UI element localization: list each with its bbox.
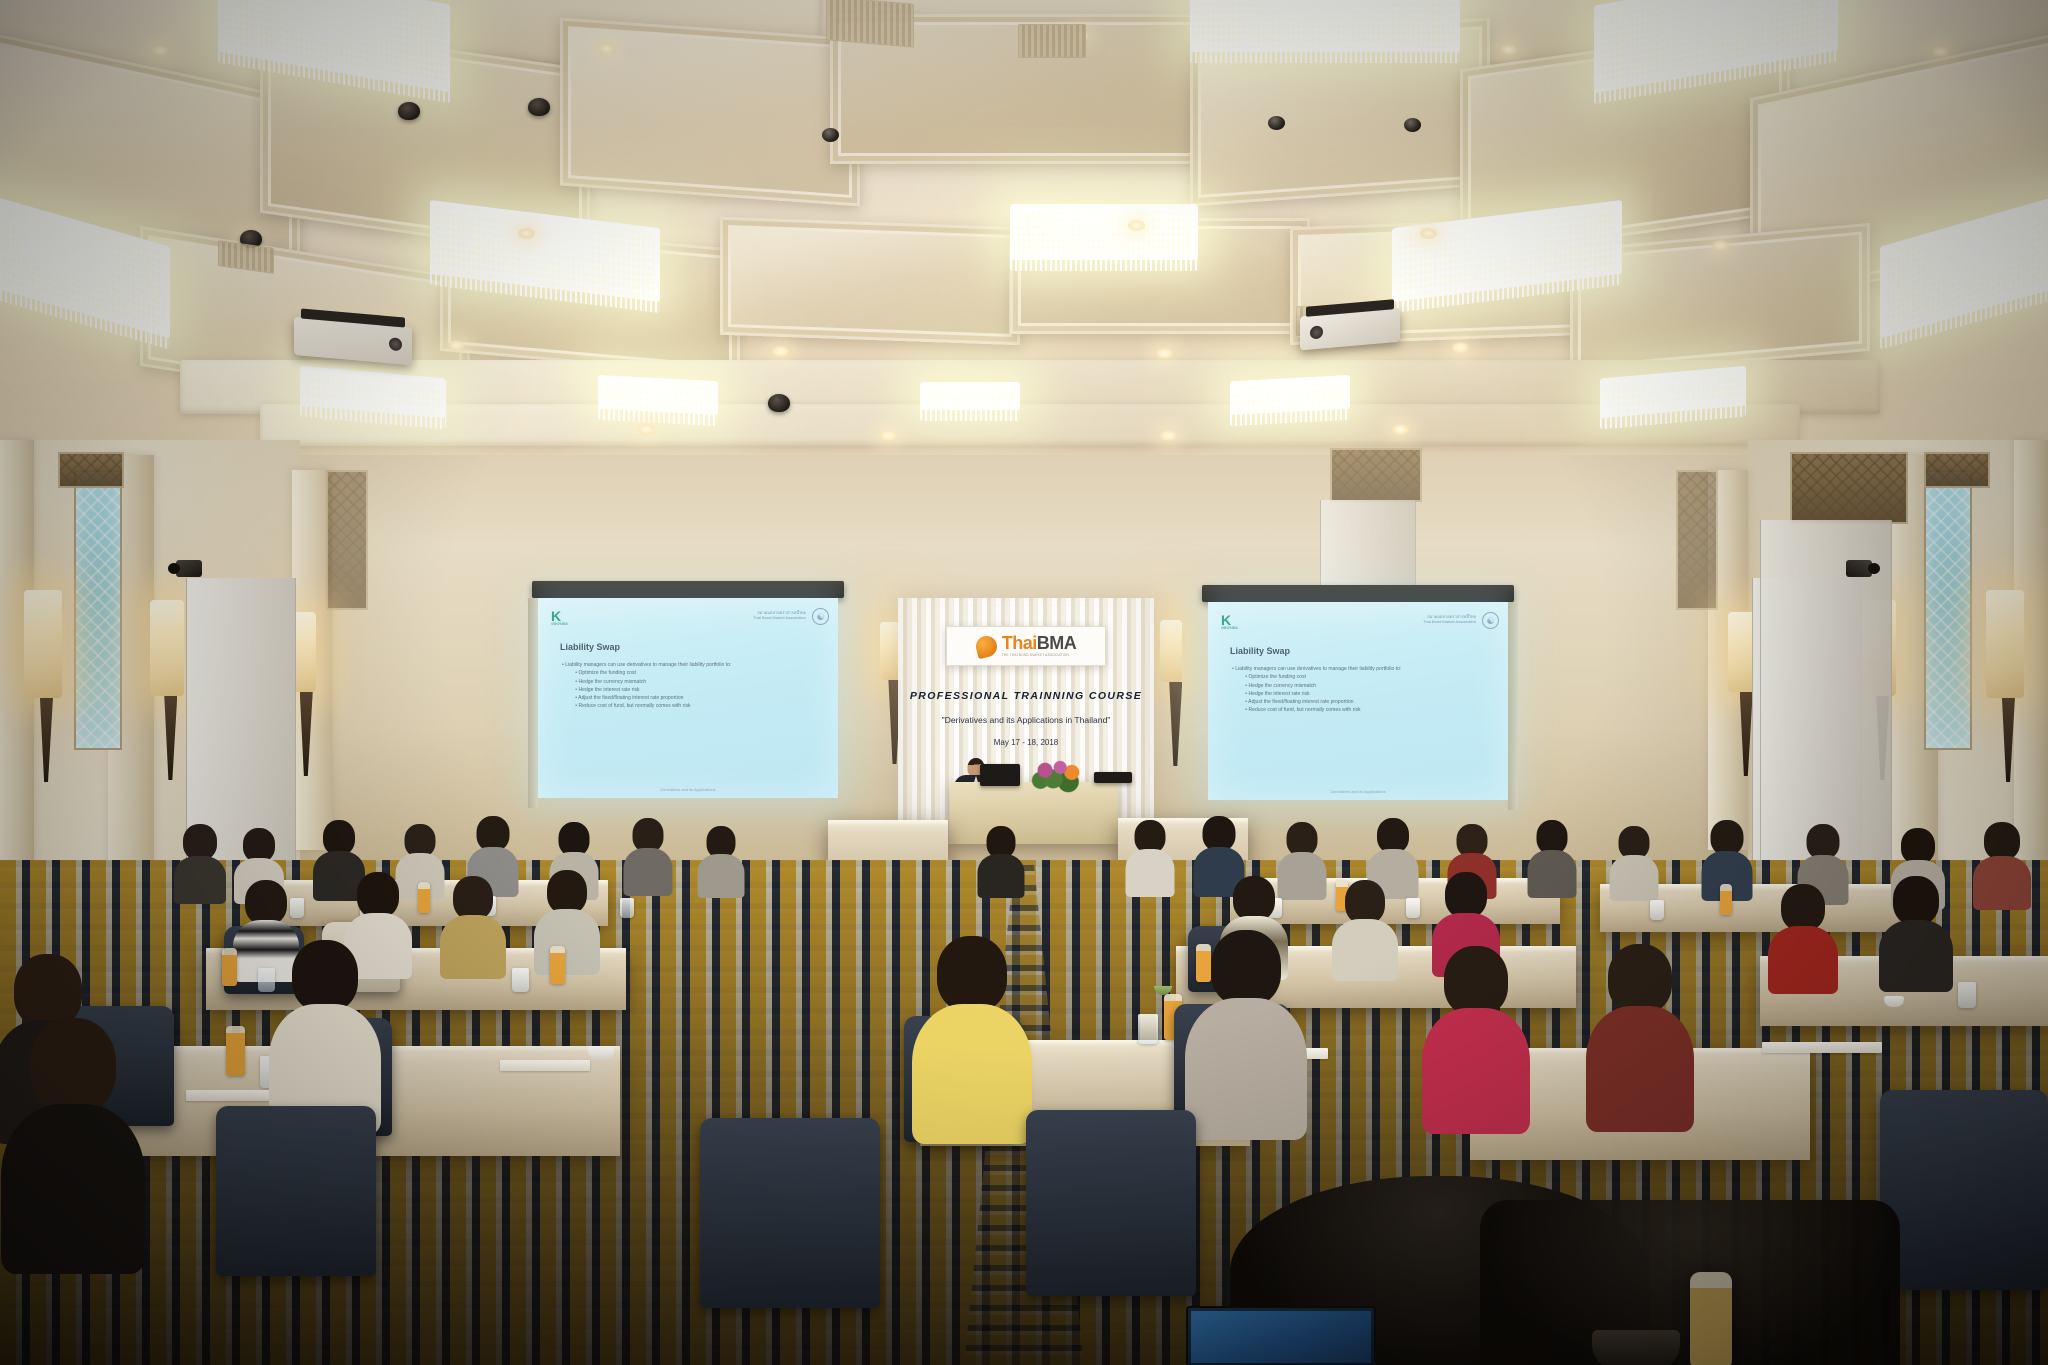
attendee-body [978, 854, 1025, 898]
slide-bullet: • Liability managers can use derivatives… [1232, 666, 1401, 672]
slide-footer: Derivatives and its Applications [660, 787, 715, 792]
coffered-ceiling [0, 0, 2048, 470]
attendee-head [243, 828, 275, 862]
banner-course-subject: "Derivatives and its Applications in Tha… [898, 715, 1154, 725]
attendee [700, 826, 742, 896]
projection-screen-right: K KASIKORNBANK สมาคมตลาดตราสารหนี้ไทย Th… [1208, 602, 1508, 800]
attendee-head [292, 940, 358, 1012]
screen-surface: K KASIKORNBANK สมาคมตลาดตราสารหนี้ไทย Th… [538, 598, 838, 798]
attendee [1530, 820, 1574, 894]
crystal-chandelier [1190, 0, 1460, 52]
notepad [1762, 1042, 1882, 1053]
attendee-body [1, 1104, 145, 1274]
slide-org-logo: สมาคมตลาดตราสารหนี้ไทย Thai Bond Market … [1423, 614, 1476, 624]
attendee-body [1528, 850, 1577, 898]
security-camera [1268, 116, 1285, 130]
wall-sconce [150, 600, 184, 696]
attendee-body [1332, 919, 1398, 981]
attendee [980, 826, 1022, 896]
security-camera [1404, 118, 1421, 132]
crystal-chandelier [1392, 200, 1622, 302]
attendee-body [1586, 1006, 1694, 1132]
attendee-head [633, 818, 664, 852]
crystal-chandelier [1010, 204, 1198, 260]
water-glass [620, 898, 634, 918]
attendee-body [1422, 1008, 1530, 1134]
attendee [922, 936, 1022, 1132]
crystal-chandelier [598, 375, 718, 415]
coffee-cup [1592, 1330, 1680, 1365]
slide-bullet: • Hedge the currency mismatch [575, 679, 731, 685]
ceiling-vent [1018, 24, 1086, 58]
decorative-lattice-panel [1924, 452, 1990, 488]
coffee-cup [588, 1046, 614, 1060]
security-camera [1846, 560, 1872, 577]
slide-logo-sub: KASIKORNBANK [1221, 627, 1237, 631]
stage-monitor [1094, 772, 1132, 783]
attendee [626, 818, 670, 892]
decorative-lattice-panel [1330, 448, 1422, 502]
attendee-body [440, 915, 506, 979]
screen-surface: K KASIKORNBANK สมาคมตลาดตราสารหนี้ไทย Th… [1208, 602, 1508, 800]
attendee-head [1377, 818, 1409, 853]
attendee [14, 1018, 132, 1258]
attendee [1884, 876, 1948, 986]
presenter-laptop [980, 764, 1020, 786]
recessed-downlight [772, 346, 789, 357]
crystal-chandelier [920, 382, 1020, 410]
decorative-lattice-panel [326, 470, 368, 610]
attendee-head [1203, 816, 1236, 851]
recessed-downlight [638, 424, 655, 435]
attendee-head [453, 876, 493, 920]
water-glass [1650, 900, 1664, 920]
slide-logo-sub: KASIKORNBANK [551, 623, 567, 627]
recessed-downlight [152, 45, 169, 56]
attendee [1612, 826, 1656, 898]
attendee-head [1445, 872, 1487, 918]
attendee-body [624, 848, 673, 896]
thaibma-droplet-icon [974, 633, 999, 658]
recessed-downlight [1156, 348, 1173, 359]
attendee-head [245, 880, 287, 925]
attendee-head [1233, 876, 1275, 921]
attendee-head [14, 954, 82, 1028]
security-camera [822, 128, 839, 142]
ceiling-speaker [528, 98, 550, 116]
slide-org-en: Thai Bond Market Association [753, 615, 806, 620]
banner-course-title: PROFESSIONAL TRAINNING COURSE [898, 690, 1154, 702]
attendee-laptop[interactable] [1186, 1306, 1376, 1365]
attendee [538, 870, 596, 972]
slide-org-logo: สมาคมตลาดตราสารหนี้ไทย Thai Bond Market … [753, 610, 806, 620]
attendee-body [1278, 852, 1327, 900]
ceiling-beam [260, 404, 1800, 446]
attendee-body [1126, 849, 1175, 897]
attendee-head [323, 820, 355, 855]
attendee-head [1893, 876, 1939, 925]
recessed-downlight [1160, 430, 1177, 441]
slide-title: Liability Swap [560, 642, 620, 652]
attendee [1336, 880, 1394, 978]
slide-bullet: • Reduce cost of fund, but normally come… [1245, 707, 1401, 713]
banner-course-dates: May 17 - 18, 2018 [898, 738, 1154, 747]
recessed-downlight [1500, 44, 1517, 55]
slide-bullet: • Hedge the interest rate risk [575, 687, 731, 693]
attendee [176, 824, 224, 900]
recessed-downlight [1420, 228, 1437, 239]
projector-lens [389, 337, 402, 351]
attendee-head [559, 822, 590, 856]
logo-bma-text: BMA [1037, 633, 1077, 653]
slide-bullet: • Reduce cost of fund, but normally come… [575, 703, 731, 709]
slide-footer: Derivatives and its Applications [1330, 789, 1385, 794]
attendee-head [1984, 822, 2020, 860]
seal-icon: ☯ [812, 608, 829, 625]
logo-thai-text: Thai [1002, 633, 1037, 653]
slide-bullet: • Hedge the interest rate risk [1245, 691, 1401, 697]
attendee-head [547, 870, 587, 914]
recessed-downlight [518, 228, 535, 239]
attendee-head [30, 1018, 116, 1114]
recessed-downlight [1712, 240, 1729, 251]
slide-bullet: • Optimize the funding cost [575, 670, 731, 676]
conference-chair[interactable] [216, 1106, 376, 1276]
slide-bullet: • Adjust the fixed/floating interest rat… [575, 695, 731, 701]
water-glass [1138, 1014, 1158, 1044]
slide-bullet: • Hedge the currency mismatch [1245, 683, 1401, 689]
attendee-head [477, 816, 510, 851]
security-camera [176, 560, 202, 577]
ceiling-speaker [398, 102, 420, 120]
juice-bottle [418, 882, 430, 913]
attendee-body [1610, 855, 1659, 901]
water-glass [512, 968, 529, 992]
attendee-head [1537, 820, 1568, 854]
projection-screen-left: K KASIKORNBANK สมาคมตลาดตราสารหนี้ไทย Th… [538, 598, 838, 798]
recessed-downlight [1932, 46, 1949, 57]
juice-bottle [222, 948, 237, 986]
slide-brand-logo: K KASIKORNBANK [551, 609, 567, 627]
water-bottle [1690, 1272, 1732, 1365]
attendee-body [174, 856, 226, 904]
attendee [1430, 946, 1522, 1126]
juice-bottle [1720, 884, 1732, 915]
water-glass [1406, 898, 1420, 918]
ceiling-vent [826, 0, 914, 48]
conference-chair[interactable] [1026, 1110, 1196, 1296]
recessed-downlight [1392, 424, 1409, 435]
attendee-head [1345, 880, 1385, 924]
conference-hall-photo: K KASIKORNBANK สมาคมตลาดตราสารหนี้ไทย Th… [0, 0, 2048, 1365]
attendee-head [1608, 944, 1672, 1014]
conference-chair[interactable] [1880, 1090, 2048, 1290]
water-glass [258, 968, 275, 992]
attendee [1128, 820, 1172, 894]
wall-sconce [24, 590, 62, 698]
attendee-body [698, 854, 745, 898]
attendee-body [534, 909, 600, 975]
notepad [500, 1060, 590, 1071]
screen-frame [528, 598, 538, 808]
slide-org-en: Thai Bond Market Association [1423, 619, 1476, 624]
attendee-head [183, 824, 217, 860]
recessed-downlight [448, 340, 465, 351]
thaibma-banner-sign: ThaiBMA THE THAI BOND MARKET ASSOCIATION [946, 626, 1106, 666]
recessed-downlight [880, 430, 897, 441]
attendee-head [1287, 822, 1318, 856]
attendee-head [357, 872, 399, 918]
thaibma-wordmark: ThaiBMA THE THAI BOND MARKET ASSOCIATION [1002, 634, 1077, 657]
attendee [1772, 884, 1834, 990]
attendee-head [937, 936, 1007, 1012]
water-glass [1958, 982, 1976, 1008]
attendee [1976, 822, 2028, 902]
slide-brand-logo: K KASIKORNBANK [1221, 613, 1237, 631]
recessed-downlight [598, 43, 615, 54]
attendee-body [912, 1004, 1032, 1144]
juice-bottle [226, 1026, 245, 1076]
frosted-glass-panel [1924, 470, 1972, 750]
recessed-downlight [1128, 220, 1145, 231]
floral-arrangement [1030, 758, 1088, 794]
decorative-lattice-panel [1676, 470, 1718, 610]
attendee-head [1807, 824, 1840, 859]
attendee-head [1711, 820, 1744, 855]
slide-bullet-list: • Liability managers can use derivatives… [1232, 666, 1401, 716]
screen-housing [1202, 585, 1514, 602]
ceiling-speaker [768, 394, 790, 412]
attendee-body [1973, 856, 2031, 910]
attendee [1196, 930, 1296, 1126]
attendee-head [1211, 930, 1281, 1006]
attendee-body [1768, 926, 1838, 994]
frosted-glass-panel [74, 470, 122, 750]
slide-bullet: • Adjust the fixed/floating interest rat… [1245, 699, 1401, 705]
slide-bullet: • Optimize the funding cost [1245, 674, 1401, 680]
attendee-body [1879, 920, 1953, 992]
wall-sconce [1160, 620, 1182, 682]
attendee [1280, 822, 1324, 896]
attendee [278, 940, 372, 1126]
ceiling-coffer [720, 217, 1020, 345]
conference-chair[interactable] [700, 1118, 880, 1308]
attendee-head [1444, 946, 1508, 1016]
screen-housing [532, 581, 844, 598]
attendee-head [1901, 828, 1935, 864]
attendee [444, 876, 502, 976]
recessed-downlight [1452, 342, 1469, 353]
projector-lens [1310, 325, 1323, 339]
slide-bullet: • Liability managers can use derivatives… [562, 662, 731, 668]
juice-bottle [550, 946, 565, 984]
ceiling-projector [1300, 308, 1400, 351]
slide-bullet-list: • Liability managers can use derivatives… [562, 662, 731, 712]
screen-frame [1508, 602, 1518, 810]
wall-sconce [880, 622, 900, 680]
slide-title: Liability Swap [1230, 646, 1290, 656]
logo-subtitle: THE THAI BOND MARKET ASSOCIATION [1002, 654, 1077, 657]
crystal-chandelier [1230, 375, 1350, 415]
wall-sconce [1986, 590, 2024, 698]
attendee-body [1185, 998, 1307, 1140]
attendee [1594, 944, 1686, 1124]
seal-icon: ☯ [1482, 612, 1499, 629]
decorative-lattice-panel [58, 452, 124, 488]
attendee-head [1781, 884, 1825, 931]
crystal-chandelier [430, 200, 660, 302]
decorative-lattice-panel [1790, 452, 1908, 524]
